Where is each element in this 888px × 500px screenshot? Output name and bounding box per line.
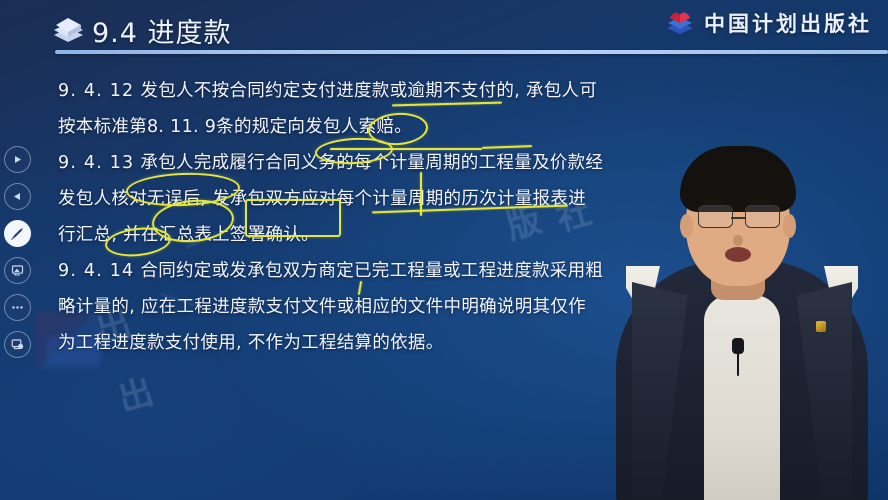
page-title: 9.4 进度款 (92, 11, 232, 50)
lecture-video-screen: 出 版 社 出 版 9.4 进度款 中国计划出版社 9. 4. 12发包人不按合… (0, 0, 888, 500)
more-options-button[interactable] (4, 294, 31, 321)
presenter-nose (733, 235, 743, 246)
presenter-hair (680, 146, 796, 212)
screen-share-button[interactable] (4, 257, 31, 284)
publisher-name: 中国计划出版社 (704, 8, 872, 38)
presenter-lapel-mic (732, 338, 744, 354)
clause-text: 发包人核对无误后, 发承包双方应对每个计量周期的历次计量报表进 (58, 189, 586, 209)
presenter-shirt (704, 295, 780, 500)
slide-header: 9.4 进度款 中国计划出版社 (0, 0, 888, 58)
clause-text: 行汇总, 并在汇总表上签署确认。 (58, 225, 319, 245)
presenter-mouth (725, 247, 751, 262)
text-line: 为工程进度款支付使用, 不作为工程结算的依据。 (58, 326, 658, 361)
text-line: 9. 4. 14合同约定或发承包双方商定已完工程量或工程进度款采用粗 (58, 254, 658, 289)
clause-text: 发包人不按合同约定支付进度款或逾期不支付的, 承包人可 (140, 81, 597, 101)
presenter-glasses-bridge (731, 217, 745, 219)
player-toolbar[interactable] (2, 146, 32, 358)
watermark-char: 出 (112, 364, 158, 420)
screen-record-button[interactable] (4, 331, 31, 358)
pen-tool-button[interactable] (4, 220, 31, 247)
clause-text: 合同约定或发承包双方商定已完工程量或工程进度款采用粗 (140, 261, 603, 281)
title-divider (55, 50, 888, 54)
stacked-books-icon (50, 15, 86, 48)
publisher-logo-icon (665, 9, 695, 37)
text-line: 发包人核对无误后, 发承包双方应对每个计量周期的历次计量报表进 (58, 182, 658, 217)
text-line: 行汇总, 并在汇总表上签署确认。 (58, 218, 658, 253)
presenter-lapel-pin (816, 321, 826, 332)
presenter-glasses-left (698, 205, 733, 228)
previous-button[interactable] (4, 183, 31, 210)
presenter-eyebrow-left (702, 200, 726, 204)
presenter-eyebrow-right (750, 200, 774, 204)
clause-number: 9. 4. 14 (58, 261, 140, 281)
presenter-glasses-right (745, 205, 780, 228)
text-line: 按本标准第8. 11. 9条的规定向发包人索赔。 (58, 110, 658, 145)
presenter-ear-left (680, 214, 693, 238)
clause-text: 为工程进度款支付使用, 不作为工程结算的依据。 (58, 333, 444, 353)
text-line: 9. 4. 12发包人不按合同约定支付进度款或逾期不支付的, 承包人可 (58, 74, 658, 109)
publisher-brand: 中国计划出版社 (665, 8, 872, 38)
slide-content: 9. 4. 12发包人不按合同约定支付进度款或逾期不支付的, 承包人可 按本标准… (58, 74, 658, 362)
clause-text: 按本标准第8. 11. 9条的规定向发包人索赔。 (58, 117, 412, 137)
play-button[interactable] (4, 146, 31, 173)
clause-number: 9. 4. 12 (58, 81, 140, 101)
text-line: 略计量的, 应在工程进度款支付文件或相应的文件中明确说明其仅作 (58, 290, 658, 325)
clause-number: 9. 4. 13 (58, 153, 140, 173)
text-line: 9. 4. 13承包人完成履行合同义务的每个计量周期的工程量及价款经 (58, 146, 658, 181)
presenter-ear-right (783, 214, 796, 238)
clause-text: 略计量的, 应在工程进度款支付文件或相应的文件中明确说明其仅作 (58, 297, 586, 317)
presenter-mic-cord (737, 352, 739, 376)
clause-text: 承包人完成履行合同义务的每个计量周期的工程量及价款经 (140, 153, 603, 173)
